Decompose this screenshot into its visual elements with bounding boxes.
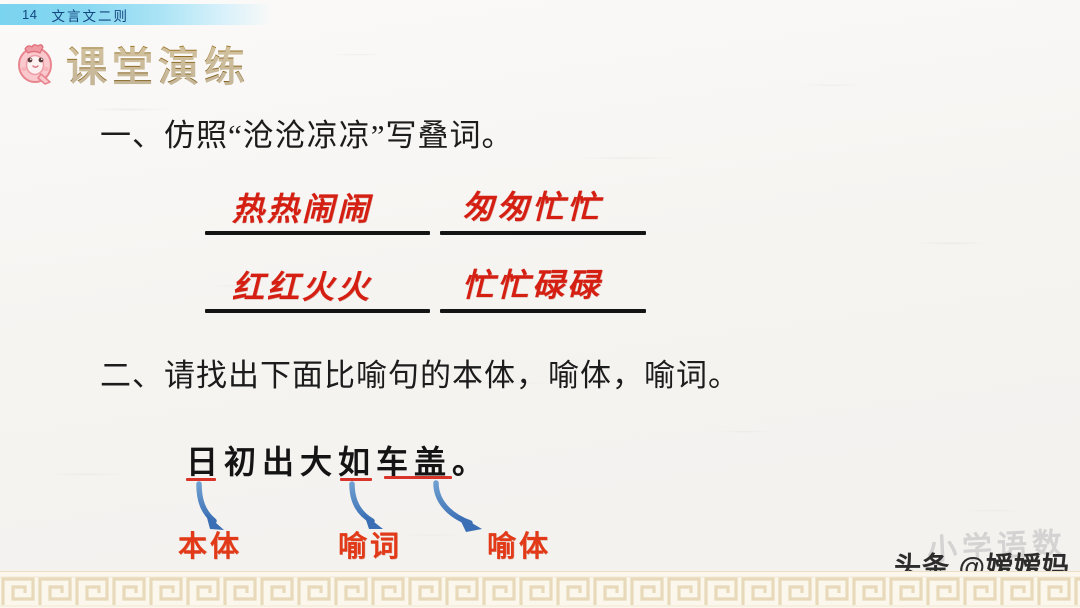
answer-rule-2 [440, 231, 646, 235]
arrow-to-yuti [436, 483, 482, 532]
answer-rule-3 [205, 309, 430, 313]
greek-key-pattern-icon [0, 572, 1080, 608]
answer-rule-4 [440, 309, 646, 313]
footer-decoration [0, 571, 1080, 608]
exercise-2-prompt: 二、请找出下面比喻句的本体，喻体，喻词。 [100, 350, 740, 395]
pink-q-mascot-icon [14, 38, 58, 88]
sentence-mark-benti [186, 478, 216, 481]
lesson-title: 文言文二则 [51, 5, 129, 25]
exercise-1-prompt: 一、仿照“沧沧凉凉”写叠词。 [100, 110, 514, 155]
answer-word-4: 忙忙碌碌 [462, 260, 602, 306]
answer-rule-1 [205, 231, 430, 235]
lesson-banner: 14 文言文二则 [0, 4, 272, 25]
page-title: 课堂演练 [66, 33, 250, 93]
sentence-mark-yuci [340, 478, 372, 481]
answer-word-1: 热热闹闹 [232, 184, 372, 230]
tag-label-benti: 本体 [178, 523, 242, 565]
answer-word-3: 红红火火 [232, 262, 372, 308]
tag-label-yuci: 喻词 [338, 523, 402, 565]
lesson-number: 14 [22, 7, 37, 22]
answer-word-2: 匆匆忙忙 [462, 182, 602, 228]
section-title-row: 课堂演练 [14, 33, 250, 93]
slide-canvas: 14 文言文二则 课堂演练 一、仿照“沧沧凉凉”写叠词。 热热闹闹 匆匆忙忙 红… [0, 0, 1080, 608]
tag-label-yuti: 喻体 [487, 523, 551, 565]
sentence-mark-yuti [384, 476, 452, 479]
